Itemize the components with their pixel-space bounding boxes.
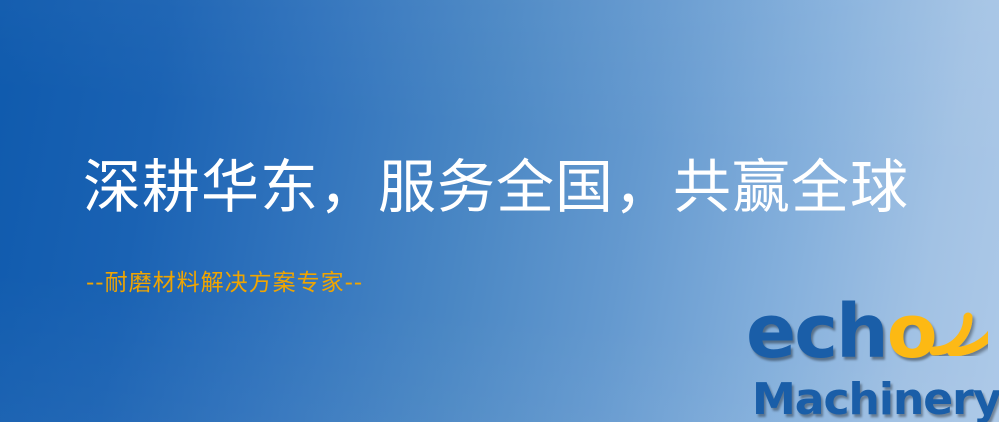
banner-subtitle: --耐磨材料解决方案专家-- <box>86 268 363 298</box>
banner-headline: 深耕华东，服务全国，共赢全球 <box>83 152 909 222</box>
logo-tagline: Machinery® <box>752 368 999 422</box>
logo-wordmark: echo <box>746 296 936 368</box>
logo-wordmark-blue-text: ech <box>746 289 887 375</box>
hero-banner: 深耕华东，服务全国，共赢全球 --耐磨材料解决方案专家-- echo Machi… <box>0 0 999 422</box>
logo-tagline-text: Machinery <box>752 374 999 422</box>
company-logo[interactable]: echo Machinery® <box>746 296 999 422</box>
signal-waves-icon <box>928 294 988 356</box>
